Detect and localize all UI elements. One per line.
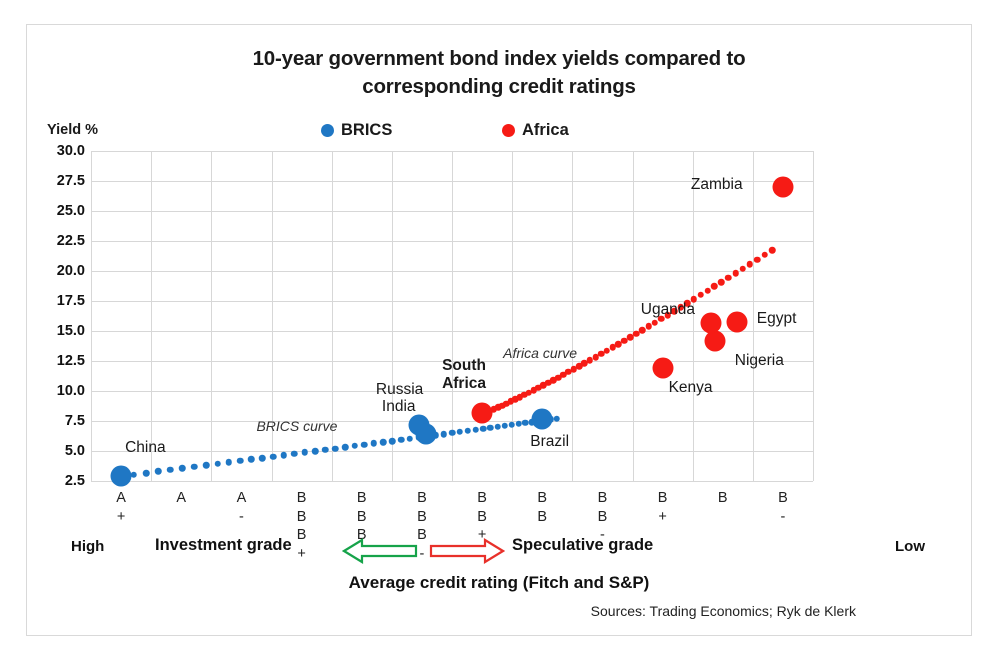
x-axis-tick-label: B- — [763, 489, 803, 526]
legend-marker-brics-icon — [321, 124, 334, 137]
trendline-dot — [711, 283, 718, 290]
annotation-zambia: Zambia — [691, 176, 743, 194]
gridline-vertical — [813, 151, 814, 481]
y-axis-tick-label: 27.5 — [29, 173, 85, 189]
plot-area: 30.027.525.022.520.017.515.012.510.07.55… — [91, 151, 813, 481]
data-point-kenya[interactable] — [652, 358, 673, 379]
data-point-south-africa[interactable] — [472, 402, 493, 423]
footer-low-label: Low — [895, 538, 925, 555]
annotation-egypt: Egypt — [757, 310, 797, 328]
x-axis-tick-label: A- — [221, 489, 261, 526]
trendline-dot — [441, 431, 448, 438]
trendline-dot — [167, 467, 174, 474]
annotation-south-africa-2: Africa — [442, 375, 486, 393]
trendline-dot — [522, 420, 529, 427]
trendline-dot — [769, 247, 776, 254]
gridline-vertical — [392, 151, 393, 481]
trendline-dot — [143, 470, 150, 477]
trendline-dot — [302, 449, 309, 456]
footer-high-label: High — [71, 538, 104, 555]
trendline-dot — [380, 439, 387, 446]
sources-note: Sources: Trading Economics; Ryk de Klerk — [591, 603, 856, 619]
trendline-dot — [361, 441, 368, 448]
data-point-uganda[interactable] — [700, 312, 721, 333]
trendline-dot — [732, 270, 739, 277]
trendline-dot — [718, 279, 725, 286]
y-axis-tick-label: 17.5 — [29, 293, 85, 309]
annotation-kenya: Kenya — [669, 379, 713, 397]
annotation-brazil: Brazil — [530, 433, 569, 451]
y-axis-tick-label: 15.0 — [29, 323, 85, 339]
x-axis-title: Average credit rating (Fitch and S&P) — [27, 573, 971, 593]
x-axis-tick-label: A+ — [101, 489, 141, 526]
y-axis-label: Yield % — [47, 122, 98, 138]
chart-title-line-1: 10-year government bond index yields com… — [253, 47, 746, 70]
trendline-dot — [487, 425, 494, 432]
trendline-dot — [237, 458, 244, 465]
trendline-dot — [259, 455, 266, 462]
trendline-dot — [389, 438, 396, 445]
trendline-dot — [509, 422, 516, 429]
trendline-dot — [494, 424, 501, 431]
trendline-dot — [332, 445, 339, 452]
annotation-south-africa-1: South — [442, 357, 486, 375]
trendline-dot — [342, 444, 349, 451]
trendline-dot — [697, 292, 704, 299]
annotation-uganda: Uganda — [641, 301, 695, 319]
trendline-dot — [248, 456, 255, 463]
gridline-vertical — [151, 151, 152, 481]
trendline-dot — [281, 452, 288, 459]
gridline-vertical — [211, 151, 212, 481]
trendline-dot — [704, 287, 711, 294]
y-axis-tick-label: 2.5 — [29, 473, 85, 489]
chart-title-line-2: corresponding credit ratings — [362, 75, 635, 98]
gridline-vertical — [91, 151, 92, 481]
gridline-vertical — [572, 151, 573, 481]
footer-investment-grade-label: Investment grade — [155, 536, 292, 555]
annotation-china: China — [125, 439, 166, 457]
annotation-africa-curve: Africa curve — [503, 345, 577, 361]
legend-label-brics: BRICS — [341, 121, 392, 140]
footer-speculative-grade-label: Speculative grade — [512, 536, 653, 555]
right-arrow-icon — [427, 537, 505, 565]
y-axis-tick-label: 25.0 — [29, 203, 85, 219]
legend-marker-africa-icon — [502, 124, 515, 137]
trendline-dot — [754, 256, 761, 263]
gridline-vertical — [512, 151, 513, 481]
y-axis-tick-label: 10.0 — [29, 383, 85, 399]
gridline-horizontal — [91, 481, 813, 482]
y-axis-tick-label: 30.0 — [29, 143, 85, 159]
chart-frame: 10-year government bond index yields com… — [26, 24, 972, 636]
trendline-dot — [371, 440, 378, 447]
trendline-dot — [480, 426, 487, 433]
trendline-dot — [472, 427, 479, 434]
trendline-dot — [739, 265, 746, 272]
trendline-dot — [398, 437, 405, 444]
trendline-dot — [515, 421, 522, 428]
trendline-dot — [226, 459, 233, 466]
trendline-dot — [761, 252, 768, 259]
y-axis-tick-label: 12.5 — [29, 353, 85, 369]
data-point-china[interactable] — [111, 466, 132, 487]
data-point-zambia[interactable] — [772, 177, 793, 198]
trendline-dot — [291, 451, 298, 458]
trendline-dot — [725, 274, 732, 281]
data-point-nigeria[interactable] — [704, 330, 725, 351]
y-axis-tick-label: 5.0 — [29, 443, 85, 459]
legend-label-africa: Africa — [522, 121, 569, 140]
data-point-egypt[interactable] — [726, 312, 747, 333]
annotation-brics-curve: BRICS curve — [256, 418, 337, 434]
trendline-dot — [203, 462, 210, 469]
trendline-dot — [155, 468, 162, 475]
annotation-india: India — [382, 398, 416, 416]
x-axis-tick-label: BB — [522, 489, 562, 526]
y-axis-tick-label: 20.0 — [29, 263, 85, 279]
annotation-russia: Russia — [376, 381, 423, 399]
annotation-nigeria: Nigeria — [735, 352, 784, 370]
trendline-dot — [270, 453, 277, 460]
x-axis-tick-label: B+ — [643, 489, 683, 526]
trendline-dot — [312, 448, 319, 455]
trendline-dot — [465, 428, 472, 435]
data-point-india[interactable] — [415, 423, 436, 444]
y-axis-tick-label: 7.5 — [29, 413, 85, 429]
x-axis-tick-label: B — [703, 489, 743, 508]
chart-title: 10-year government bond index yields com… — [27, 45, 971, 101]
x-axis-tick-label: A — [161, 489, 201, 508]
legend-item-brics[interactable]: BRICS — [321, 121, 392, 140]
data-point-brazil[interactable] — [532, 408, 553, 429]
trendline-dot — [191, 464, 198, 471]
legend-item-africa[interactable]: Africa — [502, 121, 569, 140]
gridline-vertical — [633, 151, 634, 481]
y-axis-tick-label: 22.5 — [29, 233, 85, 249]
trendline-dot — [407, 435, 414, 442]
left-arrow-icon — [342, 537, 420, 565]
trendline-dot — [179, 465, 186, 472]
trendline-dot — [457, 429, 464, 436]
trendline-dot — [352, 443, 359, 450]
trendline-dot — [214, 461, 221, 468]
trendline-dot — [553, 415, 560, 422]
gridline-vertical — [753, 151, 754, 481]
trendline-dot — [747, 261, 754, 268]
trendline-dot — [322, 447, 329, 454]
trendline-dot — [449, 430, 456, 437]
trendline-dot — [502, 423, 509, 430]
